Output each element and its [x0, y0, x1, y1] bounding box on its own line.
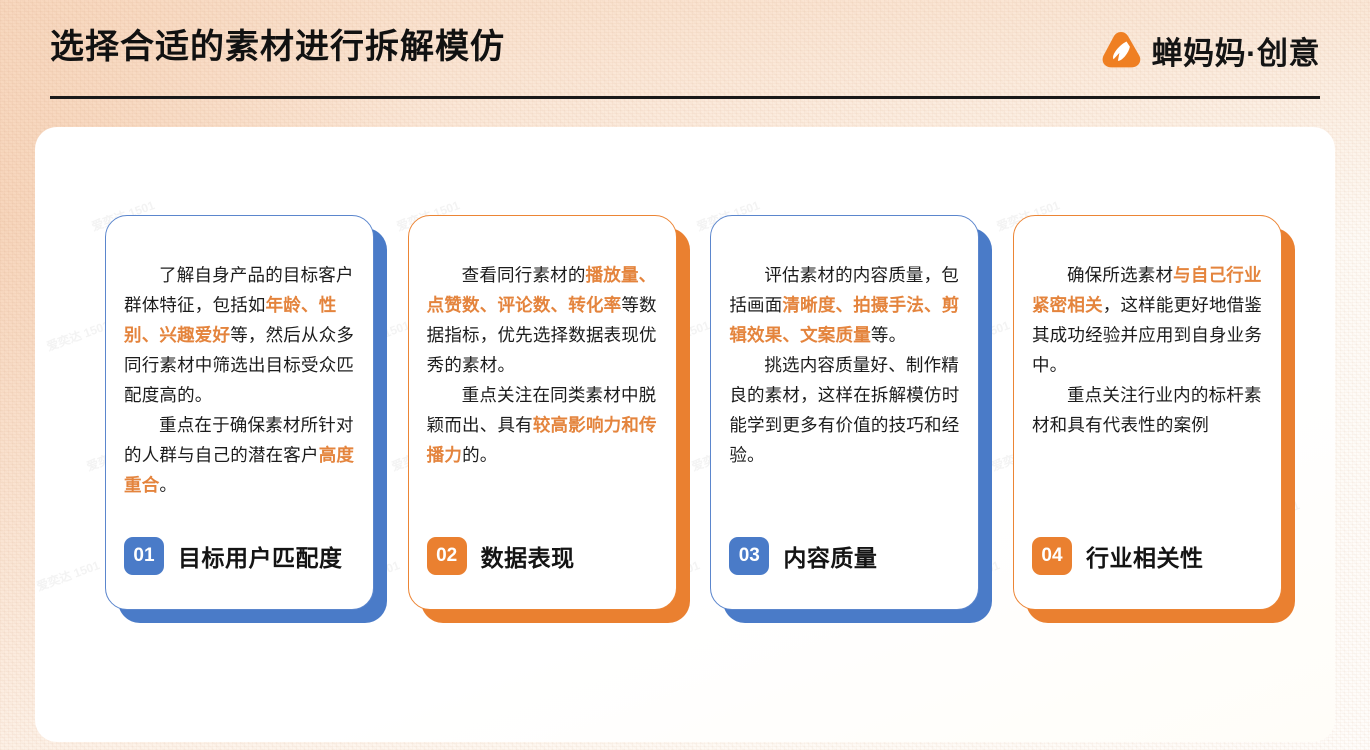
card-02-paragraph: 重点关注在同类素材中脱颖而出、具有较高影响力和传播力的。	[427, 380, 658, 470]
card-01-title: 目标用户匹配度	[178, 539, 343, 573]
card-04-title: 行业相关性	[1086, 539, 1204, 573]
card-02-surface: 查看同行素材的播放量、点赞数、评论数、转化率等数据指标，优先选择数据表现优秀的素…	[408, 215, 677, 610]
header-divider	[50, 96, 1320, 99]
card-01[interactable]: 了解自身产品的目标客户群体特征，包括如年龄、性别、兴趣爱好等，然后从众多同行素材…	[105, 215, 387, 623]
card-02-footer: 02 数据表现	[427, 537, 658, 609]
card-02-title: 数据表现	[481, 539, 575, 573]
card-04-footer: 04 行业相关性	[1032, 537, 1263, 609]
card-01-footer: 01 目标用户匹配度	[124, 537, 355, 609]
watermark-text: 爱奕达 1501	[35, 556, 102, 595]
card-02-body: 查看同行素材的播放量、点赞数、评论数、转化率等数据指标，优先选择数据表现优秀的素…	[427, 260, 658, 537]
card-04-surface: 确保所选素材与自己行业紧密相关，这样能更好地借鉴其成功经验并应用到自身业务中。重…	[1013, 215, 1282, 610]
card-04-number-badge: 04	[1032, 537, 1072, 575]
card-01-surface: 了解自身产品的目标客户群体特征，包括如年龄、性别、兴趣爱好等，然后从众多同行素材…	[105, 215, 374, 610]
body-text: 的。	[462, 445, 497, 465]
page-header: 选择合适的素材进行拆解模仿 蝉妈妈·创意	[50, 24, 1320, 99]
card-02-paragraph: 查看同行素材的播放量、点赞数、评论数、转化率等数据指标，优先选择数据表现优秀的素…	[427, 260, 658, 380]
card-03-paragraph: 挑选内容质量好、制作精良的素材，这样在拆解模仿时能学到更多有价值的技巧和经验。	[729, 350, 960, 470]
watermark-text: 爱奕达 1501	[44, 316, 112, 355]
card-03-paragraph: 评估素材的内容质量，包括画面清晰度、拍摄手法、剪辑效果、文案质量等。	[729, 260, 960, 350]
card-04-paragraph: 重点关注行业内的标杆素材和具有代表性的案例	[1032, 380, 1263, 440]
cards-row: 了解自身产品的目标客户群体特征，包括如年龄、性别、兴趣爱好等，然后从众多同行素材…	[105, 215, 1295, 625]
card-01-body: 了解自身产品的目标客户群体特征，包括如年龄、性别、兴趣爱好等，然后从众多同行素材…	[124, 260, 355, 537]
card-02-number-badge: 02	[427, 537, 467, 575]
brand-name: 蝉妈妈·创意	[1152, 28, 1320, 73]
content-panel: 爱奕达 1501 爱奕达 1501 爱奕达 1501 爱奕达 1501 爱奕达 …	[35, 127, 1335, 742]
card-03-surface: 评估素材的内容质量，包括画面清晰度、拍摄手法、剪辑效果、文案质量等。挑选内容质量…	[710, 215, 979, 610]
body-text: 。	[159, 475, 177, 495]
brand-lockup: 蝉妈妈·创意	[1099, 28, 1320, 73]
body-text: 挑选内容质量好、制作精良的素材，这样在拆解模仿时能学到更多有价值的技巧和经验。	[729, 355, 959, 465]
chanmama-logo-icon	[1099, 29, 1143, 73]
card-03-title: 内容质量	[783, 539, 877, 573]
card-03-footer: 03 内容质量	[729, 537, 960, 609]
card-01-number-badge: 01	[124, 537, 164, 575]
card-03-body: 评估素材的内容质量，包括画面清晰度、拍摄手法、剪辑效果、文案质量等。挑选内容质量…	[729, 260, 960, 537]
card-01-paragraph: 了解自身产品的目标客户群体特征，包括如年龄、性别、兴趣爱好等，然后从众多同行素材…	[124, 260, 355, 410]
body-text: 等。	[871, 325, 906, 345]
card-03-number-badge: 03	[729, 537, 769, 575]
card-02[interactable]: 查看同行素材的播放量、点赞数、评论数、转化率等数据指标，优先选择数据表现优秀的素…	[408, 215, 690, 623]
body-text: 查看同行素材的	[462, 265, 586, 285]
card-04-body: 确保所选素材与自己行业紧密相关，这样能更好地借鉴其成功经验并应用到自身业务中。重…	[1032, 260, 1263, 537]
body-text: 确保所选素材	[1067, 265, 1173, 285]
card-04-paragraph: 确保所选素材与自己行业紧密相关，这样能更好地借鉴其成功经验并应用到自身业务中。	[1032, 260, 1263, 380]
card-04[interactable]: 确保所选素材与自己行业紧密相关，这样能更好地借鉴其成功经验并应用到自身业务中。重…	[1013, 215, 1295, 623]
card-03[interactable]: 评估素材的内容质量，包括画面清晰度、拍摄手法、剪辑效果、文案质量等。挑选内容质量…	[710, 215, 992, 623]
card-01-paragraph: 重点在于确保素材所针对的人群与自己的潜在客户高度重合。	[124, 410, 355, 500]
body-text: 重点关注行业内的标杆素材和具有代表性的案例	[1032, 385, 1262, 435]
